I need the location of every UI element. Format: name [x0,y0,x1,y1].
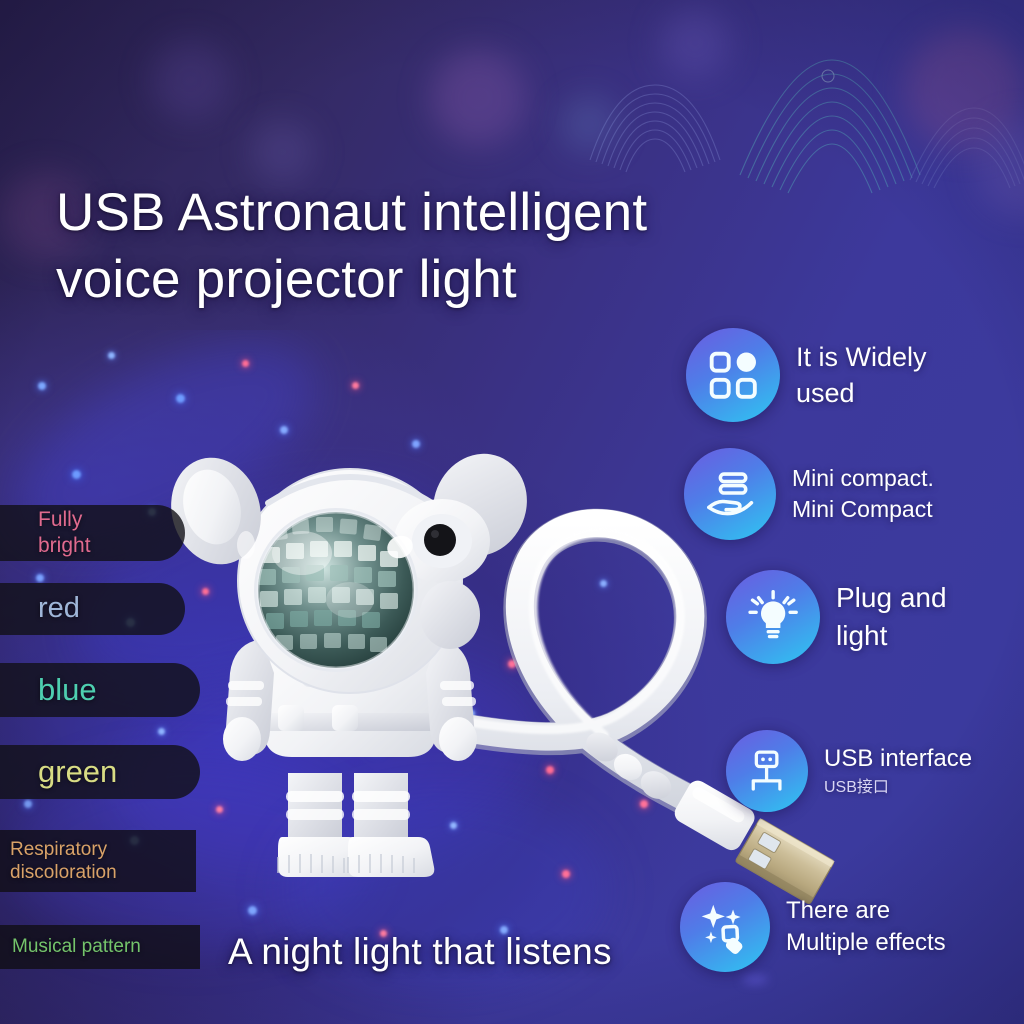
grid-squares-icon [686,328,780,422]
feature-label-line2: Mini Compact [792,494,934,525]
feature-plug-and-light: Plug andlight [726,570,947,664]
headline-line-2: voice projector light [56,247,816,314]
feature-label: It is Widely [796,339,927,375]
feature-label: There are [786,895,946,927]
feature-label: USB interface [824,743,972,775]
feature-label-line2: light [836,617,947,655]
feature-label-line2: used [796,375,927,411]
feature-label-line2: Multiple effects [786,927,946,959]
page-title: USB Astronaut intelligent voice projecto… [56,180,816,314]
feature-widely-used: It is Widelyused [686,328,927,422]
mode-label-text-line2: bright [38,533,91,559]
mode-label-red: red [0,583,185,635]
mode-label-text: Musical pattern [12,935,141,958]
feature-usb-interface: USB interfaceUSB接口 [726,730,972,812]
bokeh-light [560,95,618,153]
feature-multiple-effects: There areMultiple effects [680,882,946,972]
bokeh-light [250,120,314,184]
mode-label-fully-bright: Fullybright [0,505,185,561]
feature-label: Mini compact. [792,463,934,494]
mode-label-text-line2: discoloration [10,861,117,884]
hand-layers-icon [684,448,776,540]
product-advertisement: USB Astronaut intelligent voice projecto… [0,0,1024,1024]
mode-label-text: Fully [38,507,91,533]
mode-label-respiratory-discoloration: Respiratorydiscoloration [0,830,196,892]
headline-line-1: USB Astronaut intelligent [56,180,816,247]
bokeh-light [660,8,730,78]
bokeh-light [905,30,1024,150]
bokeh-light [975,120,1024,216]
mode-label-text: Respiratory [10,838,117,861]
mode-label-text: green [38,753,117,791]
magic-wand-sparkle-icon [680,882,770,972]
mode-label-text: red [38,591,80,626]
projected-star [742,975,768,984]
mode-label-blue: blue [0,663,200,717]
bokeh-light [150,40,230,120]
feature-mini-compact: Mini compact.Mini Compact [684,448,934,540]
tagline: A night light that listens [228,933,612,970]
feature-subtitle: USB接口 [824,778,972,799]
usb-plug-icon [726,730,808,812]
feature-label: Plug and [836,579,947,617]
lightbulb-icon [726,570,820,664]
bokeh-light [430,50,526,146]
mode-label-musical-pattern: Musical pattern [0,925,200,969]
mode-label-text: blue [38,671,97,709]
mode-label-green: green [0,745,200,799]
